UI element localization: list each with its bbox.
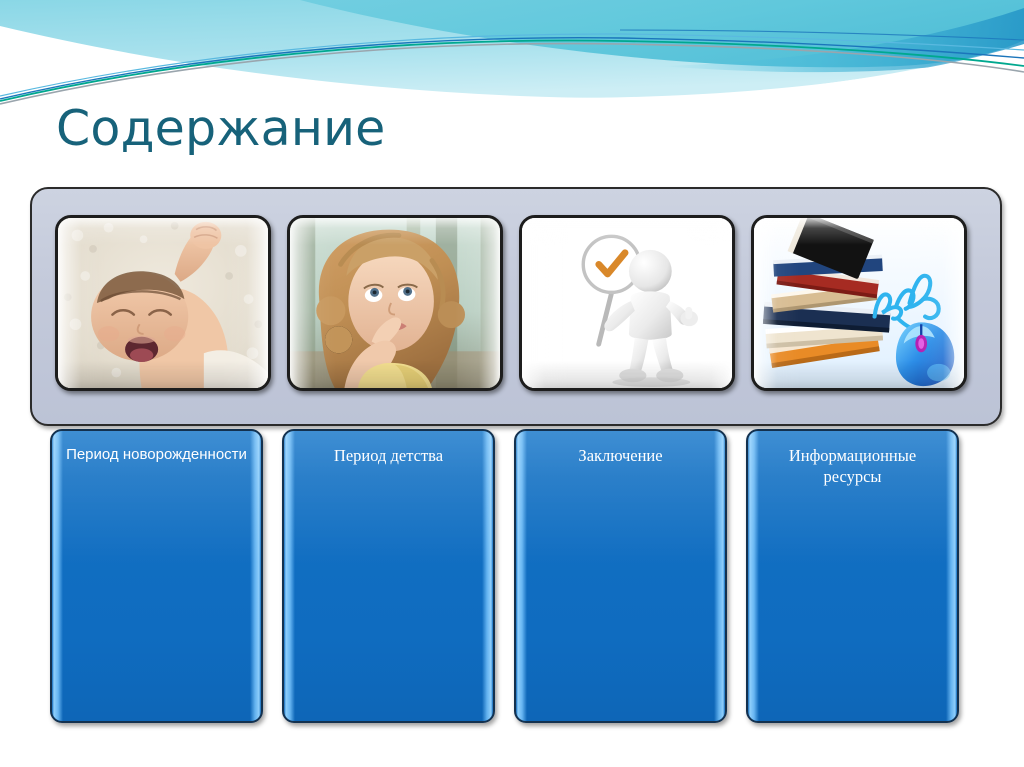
thumbnail-newborn[interactable] [55,215,271,391]
thumbnail-childhood[interactable] [287,215,503,391]
white-figure-checkmark-sign-icon [522,218,732,388]
page-title: Содержание [56,103,386,154]
image-tray [30,187,1002,426]
content-card-3[interactable]: Заключение [514,429,727,723]
young-girl-thinking-photo [290,218,500,388]
books-and-computer-mouse-web-icon [754,218,964,388]
content-card-4[interactable]: Информационные ресурсы [746,429,959,723]
card-label-3: Заключение [526,446,715,467]
content-card-2[interactable]: Период детства [282,429,495,723]
presentation-slide: Содержание [0,0,1024,767]
content-card-1[interactable]: Период новорожденности [50,429,263,723]
thumbnail-resources[interactable] [751,215,967,391]
card-label-2: Период детства [294,446,483,467]
thumbnail-conclusion[interactable] [519,215,735,391]
card-label-4: Информационные ресурсы [758,446,947,487]
card-label-1: Период новорожденности [62,446,251,465]
newborn-baby-yawning-photo [58,218,268,388]
